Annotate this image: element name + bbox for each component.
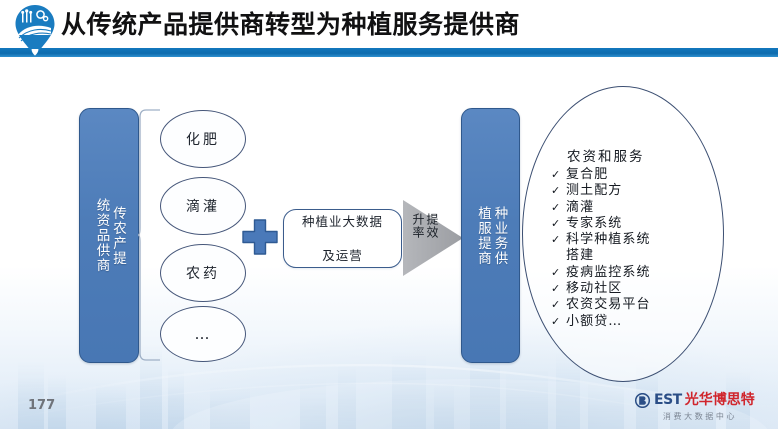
brand-latin-text: EST bbox=[654, 393, 682, 408]
page-number: 177 bbox=[28, 398, 55, 413]
service-item-label: 疫病监控系统 bbox=[566, 265, 651, 281]
best-logo-icon bbox=[634, 393, 651, 408]
plus-icon bbox=[239, 216, 281, 258]
brand-logo: EST 光华博思特 消费大数据中心 bbox=[634, 390, 766, 423]
service-item[interactable]: ✓ 移动社区 bbox=[551, 281, 719, 297]
input-item-label: 滴灌 bbox=[186, 196, 220, 216]
service-item-label: 农资交易平台 bbox=[566, 297, 651, 313]
service-item[interactable]: ✓ 疫病监控系统 bbox=[551, 265, 719, 281]
planting-provider-col-right: 种业务供 bbox=[491, 206, 507, 266]
service-item-label: 专家系统 bbox=[566, 216, 622, 232]
big-data-operations-label: 种植业大数据及运营 bbox=[284, 213, 401, 264]
agriculture-pin-icon bbox=[13, 4, 57, 56]
service-item-label: 测土配方 bbox=[566, 183, 622, 199]
service-item[interactable]: ✓ 农资交易平台 bbox=[551, 297, 719, 313]
big-data-operations-box[interactable]: 种植业大数据及运营 bbox=[283, 209, 402, 268]
brand-subtitle: 消费大数据中心 bbox=[634, 411, 766, 422]
input-item-label: 化肥 bbox=[186, 129, 220, 149]
service-item[interactable]: ✓ 小额贷… bbox=[551, 314, 719, 330]
service-item-label: 小额贷… bbox=[566, 314, 622, 330]
diagram-canvas: 传农产提 统资品供商 化肥 滴灌 农药 … 种植业大数据及运营 bbox=[0, 56, 778, 386]
efficiency-col-left: 升率 bbox=[411, 213, 425, 239]
brand-chinese-text: 光华博思特 bbox=[685, 393, 755, 408]
planting-service-provider-label: 种业务供 植服提商 bbox=[462, 109, 519, 362]
check-icon: ✓ bbox=[551, 200, 566, 216]
input-item-label: … bbox=[195, 325, 212, 343]
services-list: 农资和服务 ✓ 复合肥 ✓ 测土配方 ✓ 滴灌 ✓ 专家系统 ✓ 科学种植系统 … bbox=[551, 149, 719, 330]
efficiency-arrow-label: 提效 升率 bbox=[411, 213, 439, 239]
service-item-label: 滴灌 bbox=[566, 200, 594, 216]
slide-root: 从传统产品提供商转型为种植服务提供商 传农产提 统资品供商 化肥 滴灌 农药 … bbox=[0, 0, 778, 429]
traditional-supplier-col-right: 传农产提 bbox=[110, 206, 126, 266]
service-item[interactable]: ✓ 科学种植系统 bbox=[551, 232, 719, 248]
input-item-more[interactable]: … bbox=[160, 306, 246, 362]
page-title: 从传统产品提供商转型为种植服务提供商 bbox=[61, 7, 520, 43]
slide-header: 从传统产品提供商转型为种植服务提供商 bbox=[0, 0, 778, 56]
service-item-label: 移动社区 bbox=[566, 281, 622, 297]
input-item-diguan[interactable]: 滴灌 bbox=[160, 177, 246, 235]
input-item-huafei[interactable]: 化肥 bbox=[160, 110, 246, 168]
traditional-supplier-box[interactable]: 传农产提 统资品供商 bbox=[79, 108, 139, 363]
big-data-line-2: 及运营 bbox=[293, 247, 392, 264]
service-item-label: 复合肥 bbox=[566, 167, 608, 183]
brand-logo-row: EST 光华博思特 bbox=[634, 390, 766, 410]
input-item-label: 农药 bbox=[186, 263, 220, 283]
service-item[interactable]: ✓ 专家系统 bbox=[551, 216, 719, 232]
efficiency-col-right: 提效 bbox=[425, 213, 439, 239]
traditional-supplier-col-left: 统资品供商 bbox=[93, 198, 109, 273]
service-item-label: 科学种植系统 bbox=[566, 232, 651, 248]
service-item[interactable]: ✓ 滴灌 bbox=[551, 200, 719, 216]
check-icon: ✓ bbox=[551, 265, 566, 281]
planting-provider-col-left: 植服提商 bbox=[475, 206, 491, 266]
services-heading: 农资和服务 bbox=[567, 149, 719, 166]
left-bracket bbox=[137, 108, 161, 362]
check-icon: ✓ bbox=[551, 216, 566, 232]
input-item-nongyao[interactable]: 农药 bbox=[160, 244, 246, 302]
traditional-supplier-label: 传农产提 统资品供商 bbox=[80, 109, 138, 362]
check-icon: ✓ bbox=[551, 297, 566, 313]
service-item[interactable]: ✓ 复合肥 bbox=[551, 167, 719, 183]
check-icon: ✓ bbox=[551, 314, 566, 330]
check-icon: ✓ bbox=[551, 183, 566, 199]
planting-service-provider-box[interactable]: 种业务供 植服提商 bbox=[461, 108, 520, 363]
check-icon: ✓ bbox=[551, 167, 566, 183]
check-icon: ✓ bbox=[551, 232, 566, 248]
check-icon: ✓ bbox=[551, 281, 566, 297]
service-item[interactable]: ✓ 测土配方 bbox=[551, 183, 719, 199]
big-data-line-1: 种植业大数据 bbox=[293, 213, 392, 230]
service-item-continuation: 搭建 bbox=[566, 248, 719, 264]
